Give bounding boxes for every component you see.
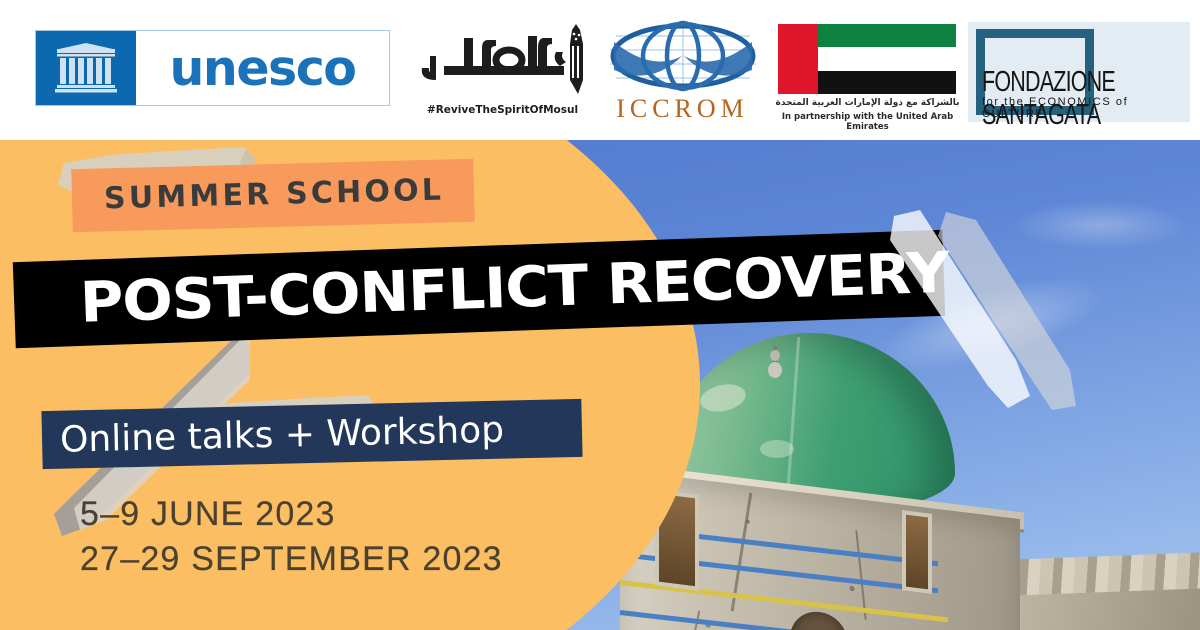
- logo-iccrom[interactable]: ICCROM: [600, 20, 765, 128]
- logo-unesco[interactable]: unesco: [35, 30, 390, 106]
- date-line-1: 5–9 JUNE 2023: [80, 492, 503, 537]
- dome-finial-ball: [770, 350, 780, 361]
- format-banner: Online talks + Workshop: [41, 399, 582, 469]
- uae-flag-black-stripe: [818, 71, 956, 94]
- uae-partnership-english: In partnership with the United Arab Emir…: [775, 112, 960, 132]
- date-line-2: 27–29 SEPTEMBER 2023: [80, 537, 503, 582]
- logo-fondazione-santagata[interactable]: FONDAZIONE SANTAGATA for the ECONOMICS o…: [968, 22, 1190, 122]
- uae-flag-green-stripe: [818, 24, 956, 47]
- date-list: 5–9 JUNE 2023 27–29 SEPTEMBER 2023: [80, 492, 503, 582]
- mosul-arabic-calligraphy-icon: [410, 22, 595, 100]
- format-label: Online talks + Workshop: [42, 409, 505, 460]
- uae-flag-stripes: [818, 24, 956, 94]
- santagata-tagline: for the ECONOMICS of CULTURE: [982, 96, 1186, 120]
- iccrom-globe-icon: [608, 20, 758, 92]
- logo-uae-partnership[interactable]: بالشراكة مع دولة الإمارات العربية المتحد…: [775, 24, 960, 130]
- kicker-label: SUMMER SCHOOL: [104, 173, 445, 217]
- tower-window: [902, 510, 932, 594]
- pencil-icon: [570, 24, 583, 94]
- dome-finial-ball: [768, 362, 782, 378]
- partner-logo-bar: unesco: [0, 0, 1200, 140]
- iccrom-wordmark: ICCROM: [600, 94, 765, 124]
- mosul-hashtag: #ReviveTheSpiritOfMosul: [410, 104, 595, 116]
- poster-banner: SUMMER SCHOOL POST-CONFLICT RECOVERY Onl…: [0, 0, 1200, 630]
- logo-revive-mosul[interactable]: #ReviveTheSpiritOfMosul: [410, 22, 595, 130]
- dome-damage-patch: [760, 440, 794, 458]
- uae-flag-white-stripe: [818, 47, 956, 70]
- kicker-badge: SUMMER SCHOOL: [71, 159, 475, 233]
- uae-flag-red-band: [778, 24, 818, 94]
- unesco-wordmark-text: unesco: [170, 44, 356, 93]
- poster-stage: SUMMER SCHOOL POST-CONFLICT RECOVERY Onl…: [0, 140, 1200, 630]
- uae-partnership-arabic: بالشراكة مع دولة الإمارات العربية المتحد…: [775, 98, 960, 108]
- unesco-temple-emblem-icon: [36, 31, 136, 105]
- greek-temple-icon: [55, 42, 117, 94]
- white-diagonal-brushstroke-icon: [880, 210, 1100, 430]
- uae-flag-icon: [778, 24, 956, 94]
- unesco-wordmark: unesco: [136, 31, 389, 105]
